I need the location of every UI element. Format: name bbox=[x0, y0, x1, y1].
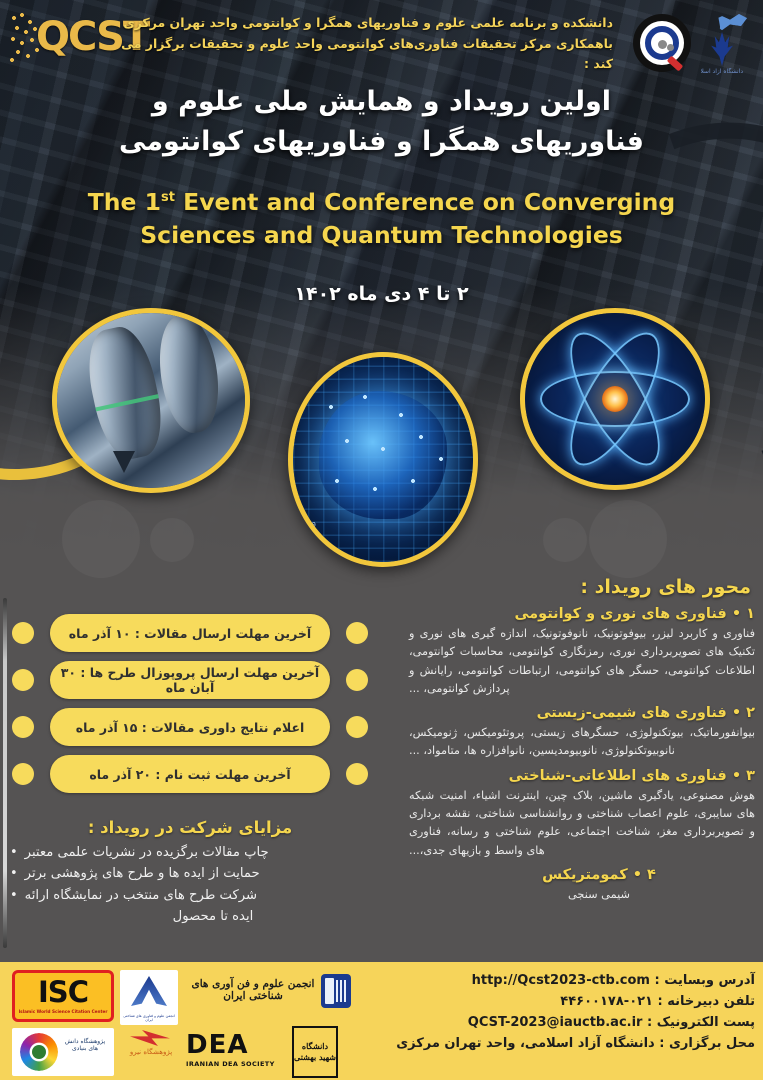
topics-heading: محور های رویداد : bbox=[407, 576, 755, 598]
phone-value: ۰۲۱-۴۴۶۰۰۱۷۸ bbox=[560, 994, 653, 1009]
benefit-item: شرکت طرح های منتخب در نمایشگاه ارائه • bbox=[10, 886, 370, 906]
triangle-emblem-icon bbox=[131, 976, 167, 1006]
poster-header: QCST دانشکده و برنامه علمی علوم و فناوری… bbox=[0, 0, 763, 92]
venue-value: دانشگاه آزاد اسلامی، واحد تهران مرکزی bbox=[396, 1036, 655, 1051]
benefits-section: مزایای شرکت در رویداد : چاپ مقالات برگزی… bbox=[10, 818, 370, 928]
benefit-text: حمایت از ایده ها و طرح های پژوهشی برتر bbox=[25, 864, 260, 884]
persian-title-line-2: فناوریهای همگرا و فناوریهای کوانتومی bbox=[40, 122, 723, 162]
deadline-item: اعلام نتایج داوری مقالات : ۱۵ آذر ماه bbox=[10, 708, 370, 746]
logo-outer-ring bbox=[640, 21, 684, 65]
bullet-icon: • bbox=[10, 864, 18, 884]
english-title-rest: Event and Conference on Converging bbox=[183, 188, 675, 216]
deadline-dot-left bbox=[12, 763, 34, 785]
logo-inner-ring bbox=[645, 26, 679, 60]
decorative-circle bbox=[543, 518, 587, 562]
email-value[interactable]: QCST-2023@iauctb.ac.ir bbox=[468, 1015, 643, 1030]
deadline-dot-right bbox=[346, 669, 368, 691]
magnifier-handle-icon bbox=[667, 56, 684, 72]
objective-lens-icon bbox=[153, 312, 225, 437]
deadlines-section: آخرین مهلت ارسال مقالات : ۱۰ آذر ماه آخر… bbox=[10, 614, 370, 802]
topic-label: فناوری های نوری و کوانتومی bbox=[514, 606, 726, 622]
deadline-dot-right bbox=[346, 716, 368, 738]
benefit-text: چاپ مقالات برگزیده در نشریات علمی معتبر bbox=[25, 843, 269, 863]
cognitive-society-logo: انجمن علوم و فناوری های شناختی ایران bbox=[120, 970, 178, 1025]
cognitive-logo-caption: انجمن علوم و فناوری های شناختی ایران bbox=[122, 1014, 176, 1022]
topic-body: فناوری و کاربرد لیزر، بیوفوتونیک، نانوفو… bbox=[407, 625, 755, 698]
venue-label: محل برگزاری : bbox=[659, 1036, 755, 1051]
website-row: آدرس وبسایت : http://Qcst2023-ctb.com bbox=[355, 970, 755, 991]
dea-subtitle: IRANIAN DEA SOCIETY bbox=[186, 1060, 282, 1068]
english-title-prefix: The 1 bbox=[88, 188, 161, 216]
contact-info: آدرس وبسایت : http://Qcst2023-ctb.com تل… bbox=[355, 970, 755, 1054]
benefits-heading: مزایای شرکت در رویداد : bbox=[10, 818, 370, 837]
persian-title: اولین رویداد و همایش ملی علوم و فناوریها… bbox=[0, 82, 763, 162]
lens-tip-icon bbox=[113, 451, 135, 473]
objective-lens-icon bbox=[80, 322, 170, 464]
dea-society-logo: DEA IRANIAN DEA SOCIETY bbox=[186, 1032, 282, 1076]
benefit-continuation: ایده تا محصول bbox=[10, 907, 370, 927]
topic-body: شیمی سنجی bbox=[407, 886, 755, 904]
topic-title: ۳ • فناوری های اطلاعاتی-شناختی bbox=[407, 768, 755, 784]
atom-illustration bbox=[525, 313, 705, 485]
deadline-item: آخرین مهلت ثبت نام : ۲۰ آذر ماه bbox=[10, 755, 370, 793]
deadline-dot-right bbox=[346, 763, 368, 785]
niro-research-logo: پژوهشگاه نیرو bbox=[122, 1028, 180, 1078]
neuron-nodes-icon bbox=[313, 385, 463, 525]
isc-subtitle: Islamic World Science Citation Center bbox=[19, 1009, 108, 1014]
email-row: پست الکترونیک : QCST-2023@iauctb.ac.ir bbox=[355, 1012, 755, 1033]
benefit-item: چاپ مقالات برگزیده در نشریات علمی معتبر … bbox=[10, 843, 370, 863]
iau-logo-caption: دانشگاه آزاد اسلامی bbox=[701, 68, 743, 77]
quantum-center-logo bbox=[633, 14, 691, 72]
research-institute-logo: پژوهشگاه دانش های بنیادی bbox=[12, 1028, 114, 1076]
english-title: The 1st Event and Conference on Convergi… bbox=[0, 186, 763, 253]
header-logos: دانشگاه آزاد اسلامی bbox=[625, 6, 753, 90]
topic-item: ۳ • فناوری های اطلاعاتی-شناختی هوش مصنوع… bbox=[407, 768, 755, 860]
dea-wordmark: DEA bbox=[186, 1032, 282, 1058]
microscope-illustration bbox=[57, 313, 245, 488]
bullet-icon: • bbox=[10, 886, 18, 906]
ordinal-suffix: st bbox=[161, 190, 175, 205]
deadline-dot-left bbox=[12, 716, 34, 738]
deadline-dot-left bbox=[12, 669, 34, 691]
atom-nucleus-icon bbox=[602, 386, 628, 412]
niro-caption: پژوهشگاه نیرو bbox=[122, 1048, 180, 1057]
decorative-circle bbox=[589, 500, 667, 578]
deadline-item: آخرین مهلت ارسال مقالات : ۱۰ آذر ماه bbox=[10, 614, 370, 652]
topic-number: ۱ • bbox=[732, 606, 755, 622]
topic-title: ۴ • کمومتریکس bbox=[407, 867, 755, 883]
deadline-item: آخرین مهلت ارسال پروپوزال طرح ها : ۳۰ آب… bbox=[10, 661, 370, 699]
beheshti-caption: دانشگاه شهید بهشتی bbox=[294, 1041, 336, 1063]
topic-label: فناوری های شیمی-زیستی bbox=[537, 705, 727, 721]
persian-title-line-1: اولین رویداد و همایش ملی علوم و bbox=[40, 82, 723, 122]
benefit-text: شرکت طرح های منتخب در نمایشگاه ارائه bbox=[25, 886, 257, 906]
research-institute-caption: پژوهشگاه دانش های بنیادی bbox=[60, 1038, 110, 1052]
topics-section: محور های رویداد : ۱ • فناوری های نوری و … bbox=[407, 576, 755, 911]
topic-label: فناوری های اطلاعاتی-شناختی bbox=[509, 768, 727, 784]
topic-number: ۲ • bbox=[732, 705, 755, 721]
topic-label: کمومتریکس bbox=[542, 867, 628, 883]
topic-number: ۳ • bbox=[732, 768, 755, 784]
conference-poster: QCST دانشکده و برنامه علمی علوم و فناوری… bbox=[0, 0, 763, 1080]
poster-footer: آدرس وبسایت : http://Qcst2023-ctb.com تل… bbox=[0, 962, 763, 1080]
topic-title: ۲ • فناوری های شیمی-زیستی bbox=[407, 705, 755, 721]
decorative-circle bbox=[150, 518, 194, 562]
website-label: آدرس وبسایت : bbox=[654, 973, 755, 988]
gear-icon bbox=[658, 40, 667, 49]
sponsor-logos: ISC Islamic World Science Citation Cente… bbox=[4, 966, 334, 1078]
lightning-bolt-icon bbox=[130, 1030, 170, 1046]
circuit-brain-image: 0110010010011001 bbox=[288, 352, 478, 567]
binary-code-overlay: 0110010010011001 bbox=[299, 521, 316, 556]
phone-label: تلفن دبیرخانه : bbox=[658, 994, 755, 1009]
deadline-dot-right bbox=[346, 622, 368, 644]
deadline-dot-left bbox=[12, 622, 34, 644]
organizer-line-1: دانشکده و برنامه علمی علوم و فناوریهای ه… bbox=[113, 13, 613, 34]
venue-row: محل برگزاری : دانشگاه آزاد اسلامی، واحد … bbox=[355, 1033, 755, 1054]
organizer-line-2: باهمکاری مرکز تحقیقات فناوری‌های کوانتوم… bbox=[113, 34, 613, 75]
atom-image bbox=[520, 308, 710, 490]
topic-item: ۲ • فناوری های شیمی-زیستی بیوانفورماتیک،… bbox=[407, 705, 755, 761]
website-value[interactable]: http://Qcst2023-ctb.com bbox=[472, 973, 650, 988]
topic-item: ۴ • کمومتریکس شیمی سنجی bbox=[407, 867, 755, 904]
topic-body: هوش مصنوعی، یادگیری ماشین، بلاک چین، این… bbox=[407, 787, 755, 860]
deadline-label: آخرین مهلت ثبت نام : ۲۰ آذر ماه bbox=[50, 755, 330, 793]
topic-body: بیوانفورماتیک، بیوتکنولوژی، حسگرهای زیست… bbox=[407, 724, 755, 761]
circuit-brain-illustration: 0110010010011001 bbox=[293, 357, 473, 562]
deadline-label: اعلام نتایج داوری مقالات : ۱۵ آذر ماه bbox=[50, 708, 330, 746]
english-title-line-2: Sciences and Quantum Technologies bbox=[30, 219, 733, 252]
islamic-azad-university-logo: دانشگاه آزاد اسلامی bbox=[695, 10, 749, 84]
tulip-icon bbox=[709, 32, 735, 66]
deadline-label: آخرین مهلت ارسال مقالات : ۱۰ آذر ماه bbox=[50, 614, 330, 652]
organizer-text: دانشکده و برنامه علمی علوم و فناوریهای ه… bbox=[113, 13, 613, 75]
column-divider bbox=[3, 598, 7, 948]
isc-logo: ISC Islamic World Science Citation Cente… bbox=[12, 970, 114, 1022]
email-label: پست الکترونیک : bbox=[647, 1015, 755, 1030]
bullet-icon: • bbox=[10, 843, 18, 863]
shahid-beheshti-logo: دانشگاه شهید بهشتی bbox=[292, 1026, 338, 1078]
inner-dot-icon bbox=[32, 1045, 46, 1059]
topic-number: ۴ • bbox=[633, 867, 656, 883]
deadline-label: آخرین مهلت ارسال پروپوزال طرح ها : ۳۰ آب… bbox=[50, 661, 330, 699]
topic-title: ۱ • فناوری های نوری و کوانتومی bbox=[407, 606, 755, 622]
microscope-image bbox=[52, 308, 250, 493]
decorative-circle bbox=[62, 500, 140, 578]
event-date: ۲ تا ۴ دی ماه ۱۴۰۲ bbox=[0, 283, 763, 305]
cognitive-society-name: انجمن علوم و فن آوری های شناختی ایران bbox=[182, 978, 324, 1002]
phone-row: تلفن دبیرخانه : ۰۲۱-۴۴۶۰۰۱۷۸ bbox=[355, 991, 755, 1012]
isc-wordmark: ISC bbox=[38, 978, 88, 1007]
english-title-line-1: The 1st Event and Conference on Convergi… bbox=[30, 186, 733, 219]
topic-item: ۱ • فناوری های نوری و کوانتومی فناوری و … bbox=[407, 606, 755, 698]
benefit-item: حمایت از ایده ها و طرح های پژوهشی برتر • bbox=[10, 864, 370, 884]
